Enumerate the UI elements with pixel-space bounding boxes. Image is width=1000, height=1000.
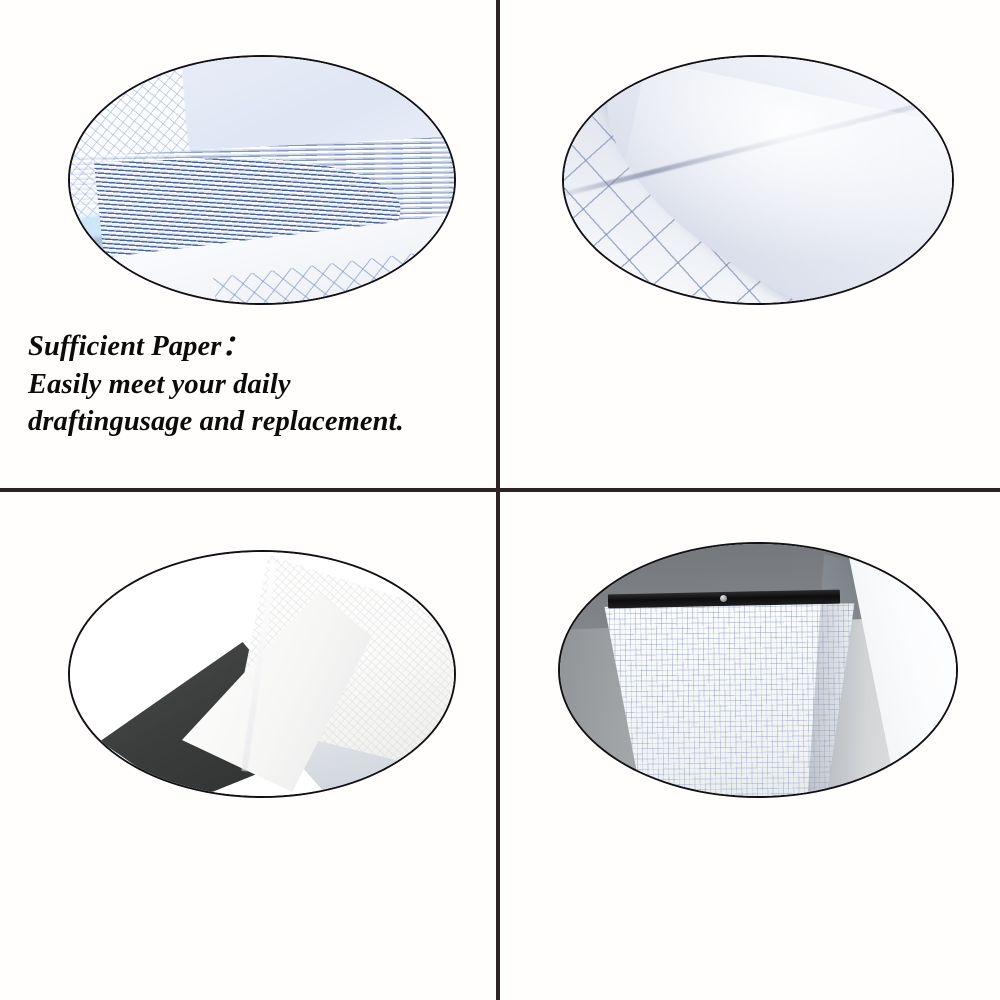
horizontal-divider bbox=[0, 488, 1000, 492]
figure-folded-corner-over-dark-backing-board bbox=[68, 550, 456, 798]
figure-lifted-sheet-over-grid-paper bbox=[562, 55, 954, 305]
product-feature-collage: Sufficient Paper： Easily meet your daily… bbox=[0, 0, 1000, 1000]
binder-rivet-icon bbox=[720, 595, 727, 602]
panel-sufficient-paper: Sufficient Paper： Easily meet your daily… bbox=[0, 0, 496, 488]
vertical-divider bbox=[496, 0, 500, 1000]
panel-high-quality-paper: High Quality Paper: 100gsm paper materia… bbox=[500, 0, 996, 488]
figure-artwork bbox=[70, 57, 454, 303]
figure-artwork bbox=[70, 552, 454, 796]
caption-sufficient-paper: Sufficient Paper： Easily meet your daily… bbox=[28, 328, 488, 441]
panel-easy-folder: Easy folder for no damage of page corner… bbox=[0, 492, 496, 980]
figure-artwork bbox=[560, 544, 956, 796]
figure-artwork bbox=[564, 57, 952, 303]
panel-perfect-perforation: Perfect perforation for easy easy tear-o… bbox=[500, 492, 996, 980]
figure-notepad-with-black-binder-strip bbox=[558, 542, 958, 798]
figure-stack-of-graph-paper-sheets bbox=[68, 55, 456, 305]
